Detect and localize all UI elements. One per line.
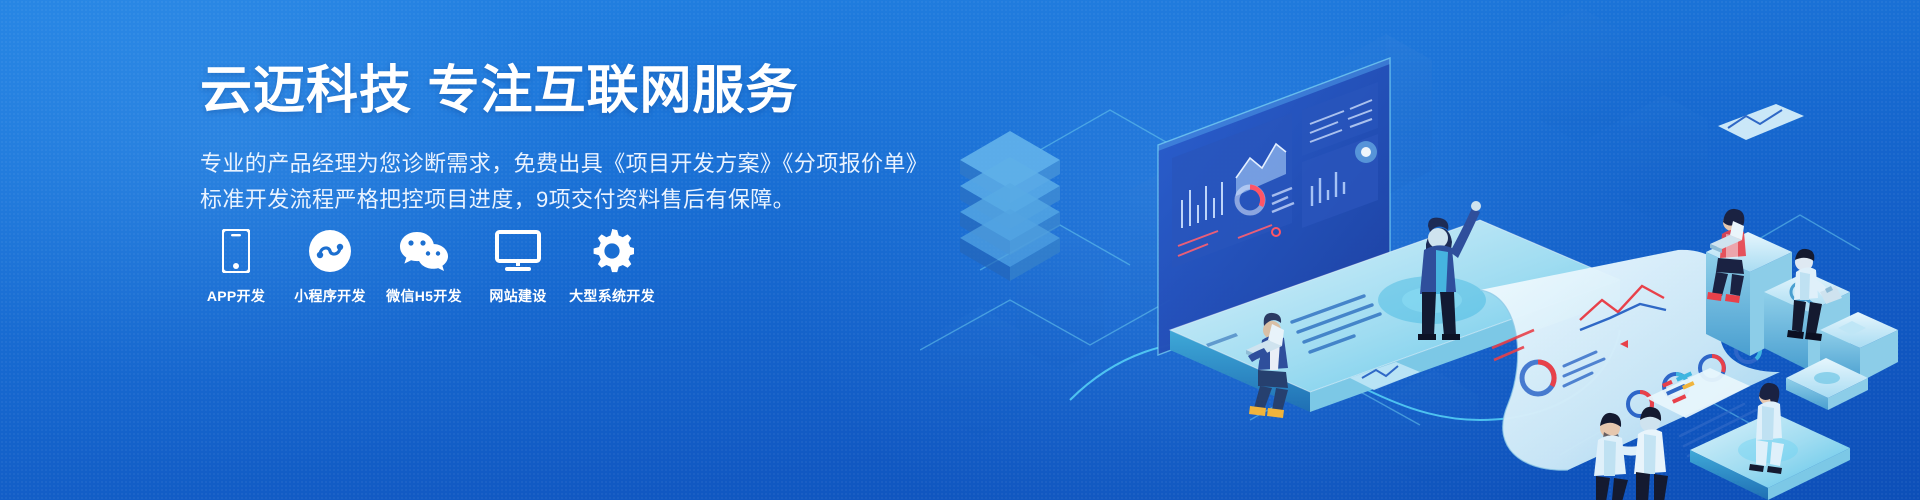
- background-city-blocks: [940, 7, 1708, 490]
- service-item-website[interactable]: 网站建设: [482, 228, 554, 306]
- service-label: 微信H5开发: [386, 286, 462, 306]
- circuit-path-glow: [1070, 265, 1620, 420]
- subtitle-line-1: 专业的产品经理为您诊断需求，免费出具《项目开发方案》《分项报价单》: [200, 146, 920, 182]
- service-label: 大型系统开发: [569, 286, 655, 306]
- service-item-mini-program[interactable]: 小程序开发: [294, 228, 366, 306]
- server-rack-stack: [960, 131, 1060, 281]
- woman-on-phone-platform: [1690, 412, 1850, 500]
- woman-on-phone: [1749, 383, 1784, 474]
- floating-mini-card-top: [1718, 104, 1804, 140]
- isometric-data-dashboard-illustration: [920, 0, 1920, 500]
- gear-icon: [590, 228, 634, 274]
- wechat-icon: [399, 228, 449, 274]
- hero-copy: 云迈科技 专注互联网服务 专业的产品经理为您诊断需求，免费出具《项目开发方案》《…: [200, 62, 920, 217]
- gauge-row: [1628, 338, 1760, 416]
- woman-with-laptop: [1707, 209, 1746, 303]
- mobile-phone-icon: [222, 228, 250, 274]
- monitor-icon: [495, 228, 541, 274]
- service-label: 网站建设: [489, 286, 546, 306]
- flowing-report-sheet: [1480, 250, 1780, 470]
- service-list: APP开发 小程序开发: [200, 228, 648, 306]
- service-item-wechat-h5[interactable]: 微信H5开发: [388, 228, 460, 306]
- service-label: APP开发: [207, 286, 265, 306]
- tablet-platform: [1170, 220, 1620, 412]
- standing-person-presenting: [1418, 201, 1481, 340]
- service-item-app[interactable]: APP开发: [200, 228, 272, 306]
- magnifier-icon: [1791, 283, 1814, 305]
- mini-program-icon: [308, 228, 352, 274]
- service-label: 小程序开发: [294, 286, 366, 306]
- subtitle-line-2: 标准开发流程严格把控项目进度，9项交付资料售后有保障。: [200, 182, 920, 218]
- two-people-talking: [1594, 407, 1668, 500]
- code-editor-card: [1646, 368, 1750, 418]
- service-item-large-system[interactable]: 大型系统开发: [576, 228, 648, 306]
- dashboard-screen: [1158, 58, 1390, 355]
- page-title: 云迈科技 专注互联网服务: [200, 62, 920, 120]
- hero-banner: 云迈科技 专注互联网服务 专业的产品经理为您诊断需求，免费出具《项目开发方案》《…: [0, 0, 1920, 500]
- step-blocks: [1706, 232, 1898, 410]
- floating-mini-card-left: [1350, 362, 1420, 390]
- hero-subtitle: 专业的产品经理为您诊断需求，免费出具《项目开发方案》《分项报价单》 标准开发流程…: [200, 146, 920, 217]
- circuit-lines: [920, 110, 1860, 455]
- walking-person-with-briefcase: [1787, 249, 1842, 341]
- seated-person-with-laptop: [1246, 313, 1288, 418]
